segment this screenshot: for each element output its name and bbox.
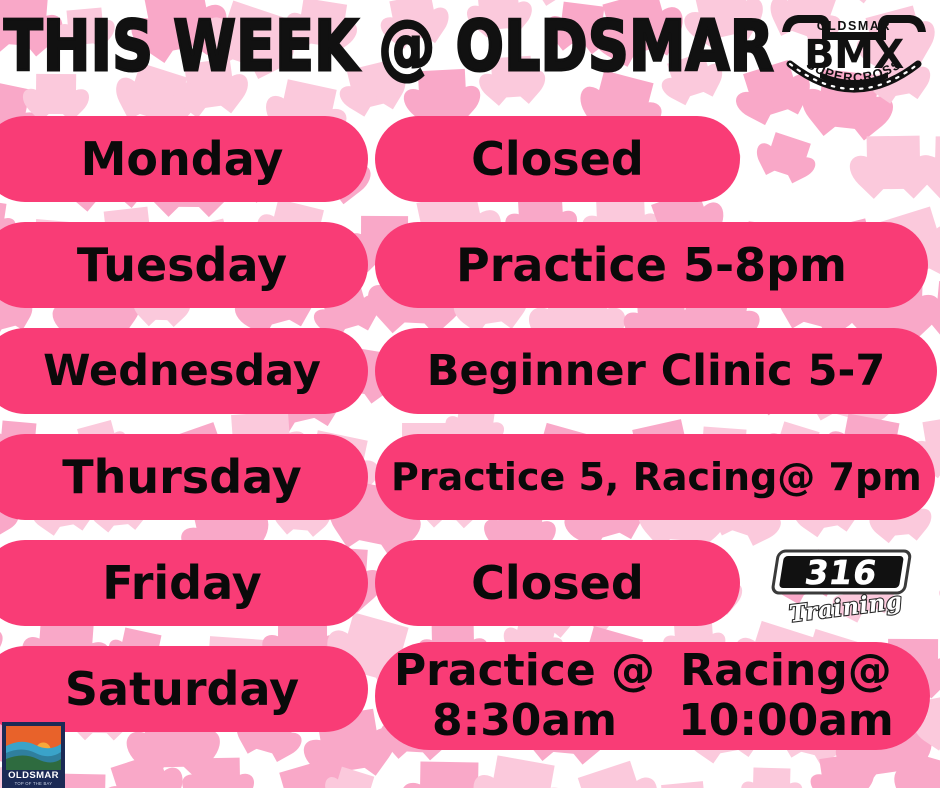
detail-text-tuesday: Practice 5-8pm [391, 238, 912, 292]
heart-icon [196, 758, 241, 788]
detail-thursday: Practice 5, Racing@ 7pm [375, 434, 935, 520]
oldsmar-bmx-supercross-logo: OLDSMAR BMX SUPERCROSS [768, 2, 940, 102]
schedule-row-thursday: Thursday Practice 5, Racing@ 7pm [0, 428, 940, 534]
schedule-row-wednesday: Wednesday Beginner Clinic 5-7 [0, 322, 940, 428]
heart-icon [578, 761, 647, 788]
heart-icon [111, 752, 173, 788]
detail-text-friday: Closed [391, 556, 724, 610]
detail-text-saturday-line1: Practice @ 8:30am [391, 646, 658, 746]
schedule-row-monday: Monday Closed [0, 110, 940, 216]
heart-icon [420, 761, 479, 788]
day-label-tuesday: Tuesday [0, 222, 368, 308]
weekly-schedule: Monday Closed Tuesday Practice 5-8pm Wed… [0, 110, 940, 746]
316-training-logo: 316 Training [762, 543, 930, 629]
heart-icon [662, 781, 708, 788]
day-label-monday: Monday [0, 116, 368, 202]
page-title: THIS WEEK @ OLDSMAR [4, 9, 756, 85]
day-label-wednesday: Wednesday [0, 328, 368, 414]
316-training-logo-icon: 316 Training [762, 543, 930, 629]
poster-canvas: THIS WEEK @ OLDSMAR OLDSMAR BMX SUPERCRO… [0, 0, 940, 788]
detail-saturday: Practice @ 8:30am Racing@ 10:00am [375, 642, 930, 750]
bmx-logo-top-text: OLDSMAR [817, 19, 891, 33]
city-logo-art-icon [6, 726, 61, 770]
schedule-row-tuesday: Tuesday Practice 5-8pm [0, 216, 940, 322]
heart-icon [752, 767, 790, 788]
detail-monday: Closed [375, 116, 740, 202]
heart-icon [904, 754, 940, 788]
heart-icon [488, 755, 555, 788]
bmx-logo-icon: OLDSMAR BMX SUPERCROSS [768, 2, 940, 102]
heart-icon [279, 760, 339, 788]
detail-wednesday: Beginner Clinic 5-7 [375, 328, 937, 414]
detail-tuesday: Practice 5-8pm [375, 222, 928, 308]
city-logo-name: OLDSMAR [6, 770, 61, 781]
detail-text-saturday-line2: Racing@ 10:00am [658, 646, 914, 746]
detail-text-monday: Closed [391, 132, 724, 186]
detail-friday: Closed [375, 540, 740, 626]
day-label-saturday: Saturday [0, 646, 368, 732]
schedule-row-saturday: Saturday Practice @ 8:30am Racing@ 10:00… [0, 640, 940, 746]
detail-text-wednesday: Beginner Clinic 5-7 [391, 346, 921, 396]
day-label-thursday: Thursday [0, 434, 368, 520]
city-logo-tagline: TOP OF THE BAY [6, 781, 61, 787]
city-of-oldsmar-logo: OLDSMAR TOP OF THE BAY [2, 722, 65, 788]
heart-icon [819, 754, 864, 788]
heart-icon [332, 767, 375, 788]
day-label-friday: Friday [0, 540, 368, 626]
detail-text-thursday: Practice 5, Racing@ 7pm [391, 455, 919, 499]
